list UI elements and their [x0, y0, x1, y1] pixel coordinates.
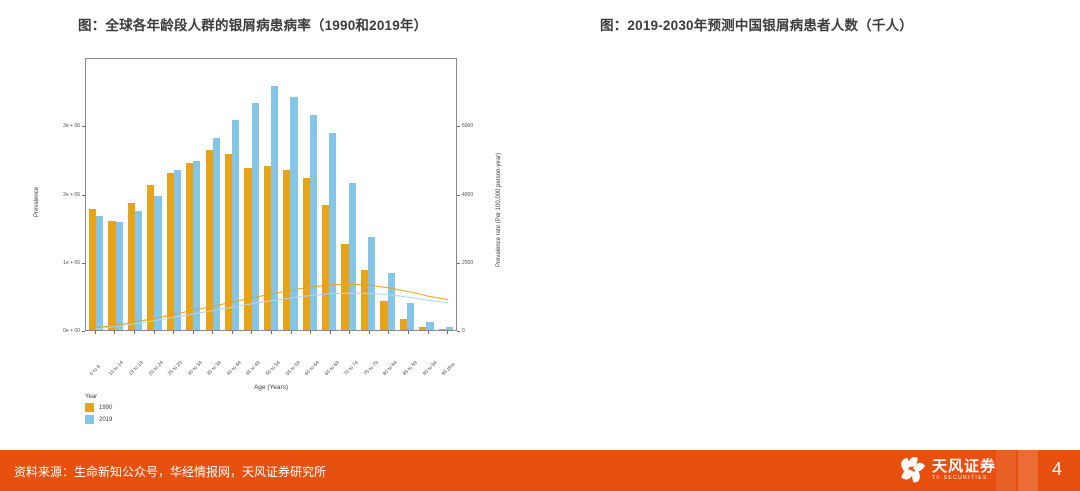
left-chart-title: 图：全球各年龄段人群的银屑病患病率（1990和2019年）: [78, 14, 427, 34]
footer-accent-square-2: [1018, 450, 1038, 491]
legend-label-2019: 2019: [99, 417, 112, 423]
left-x-tick-mark: [330, 331, 331, 334]
left-legend: Year 1990 2019: [85, 394, 112, 427]
left-x-tick-mark: [154, 331, 155, 334]
left-x-tick-label: 70 to 74: [343, 360, 360, 377]
left-x-tick-mark: [95, 331, 96, 334]
left-x-tick-label: 85 to 89: [402, 360, 419, 377]
legend-item-2019[interactable]: 2019: [85, 415, 112, 424]
left-y-axis-title: Prevalence: [34, 186, 40, 216]
left-x-tick-label: 0 to 9: [89, 364, 102, 377]
logo-text-en: TF SECURITIES: [932, 476, 996, 481]
left-x-tick-mark: [447, 331, 448, 334]
left-x-tick-label: 80 to 84: [382, 360, 399, 377]
left-y2-tick-label: 2000: [462, 260, 488, 266]
footer-bar: 资料来源：生命新知公众号，华经情报网，天风证券研究所 天风证券 TF SECUR…: [0, 450, 1080, 491]
left-x-axis-title: Age (Years): [85, 384, 457, 391]
left-x-tick-mark: [428, 331, 429, 334]
left-x-tick-label: 15 to 19: [128, 360, 145, 377]
left-x-tick-mark: [408, 331, 409, 334]
left-x-tick-label: 45 to 49: [245, 360, 262, 377]
left-plot-area: [85, 58, 457, 331]
left-x-tick-mark: [310, 331, 311, 334]
left-trend-lines: [86, 59, 458, 332]
legend-swatch-1990: [85, 403, 94, 412]
left-x-tick-label: 10 to 14: [108, 360, 125, 377]
left-x-tick-mark: [388, 331, 389, 334]
left-x-tick-mark: [114, 331, 115, 334]
left-x-tick-label: 65 to 69: [323, 360, 340, 377]
left-legend-title: Year: [85, 394, 112, 400]
tf-leaf-icon: [900, 457, 926, 483]
left-x-tick-label: 75 to 79: [363, 360, 380, 377]
source-note: 资料来源：生命新知公众号，华经情报网，天风证券研究所: [14, 463, 326, 480]
footer-accent-square-1: [996, 450, 1016, 491]
left-y-tick-label: 1e + 06: [40, 260, 80, 266]
legend-swatch-2019: [85, 415, 94, 424]
left-x-tick-label: 90 to 94: [421, 360, 438, 377]
left-y2-tick-label: 4000: [462, 192, 488, 198]
legend-label-1990: 1990: [99, 405, 112, 411]
left-x-tick-label: 40 to 44: [226, 360, 243, 377]
left-x-tick-label: 95 plus: [441, 361, 457, 377]
left-x-tick-mark: [193, 331, 194, 334]
right-chart-panel: 图：2019-2030年预测中国银屑病患者人数（千人） 645065006550…: [540, 0, 1080, 450]
left-x-tick-mark: [369, 331, 370, 334]
left-x-tick-mark: [212, 331, 213, 334]
left-x-tick-mark: [251, 331, 252, 334]
left-x-axis: 0 to 910 to 1415 to 1920 to 2425 to 2930…: [85, 331, 457, 391]
left-x-tick-mark: [232, 331, 233, 334]
left-y-tick-label: 3e + 06: [40, 123, 80, 129]
left-x-tick-label: 50 to 54: [265, 360, 282, 377]
left-x-tick-label: 30 to 34: [186, 360, 203, 377]
left-x-tick-mark: [173, 331, 174, 334]
left-x-tick-mark: [134, 331, 135, 334]
left-y-tick-label: 0e + 00: [40, 328, 80, 334]
left-x-tick-label: 20 to 24: [147, 360, 164, 377]
left-x-tick-mark: [291, 331, 292, 334]
brand-logo: 天风证券 TF SECURITIES: [900, 457, 996, 483]
page-number: 4: [1052, 459, 1062, 480]
right-chart-title: 图：2019-2030年预测中国银屑病患者人数（千人）: [600, 14, 913, 34]
left-chart-panel: 图：全球各年龄段人群的银屑病患病率（1990和2019年） 0e + 001e …: [0, 0, 540, 450]
logo-text-cn: 天风证券: [932, 459, 996, 474]
left-x-tick-label: 55 to 59: [284, 360, 301, 377]
left-x-tick-mark: [271, 331, 272, 334]
left-y2-tick-label: 0: [462, 328, 488, 334]
legend-item-1990[interactable]: 1990: [85, 403, 112, 412]
left-y-tick-label: 2e + 06: [40, 192, 80, 198]
left-x-tick-label: 25 to 29: [167, 360, 184, 377]
left-y2-tick-label: 6000: [462, 123, 488, 129]
left-x-tick-label: 60 to 64: [304, 360, 321, 377]
left-y2-axis-title: Prevalence rate (Per 100,000 person-year…: [496, 152, 502, 266]
left-x-tick-mark: [349, 331, 350, 334]
trend-line-2019-rate: [96, 293, 448, 329]
left-x-tick-label: 35 to 39: [206, 360, 223, 377]
